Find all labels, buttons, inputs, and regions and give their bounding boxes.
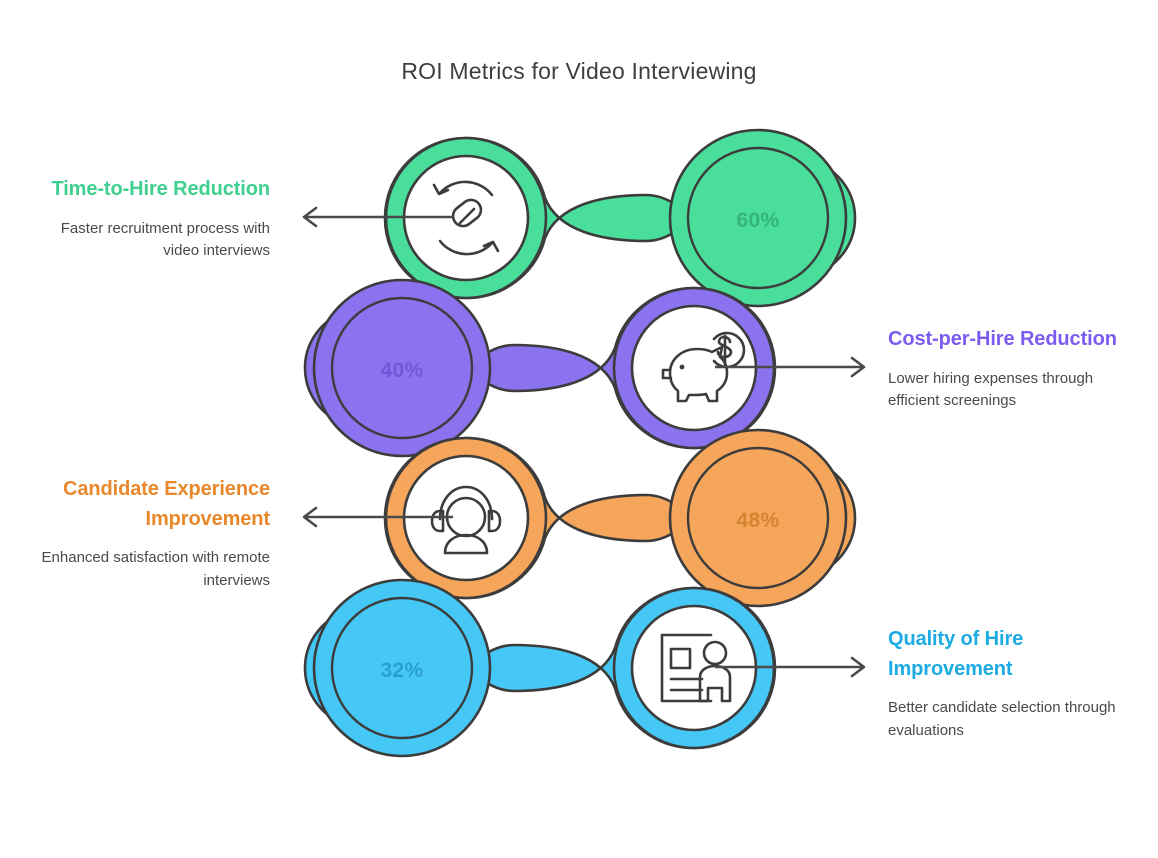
percent-value: 40% [381,359,424,382]
percent-value: 60% [737,209,780,232]
connector-arrow-left [296,205,456,229]
metric-label: Cost-per-Hire Reduction [888,325,1128,355]
metric-row-quality-of-hire: 32% Quality of Hire Improvement Better c… [0,573,1158,763]
metric-label: Candidate Experience Improvement [30,475,270,534]
metric-description: Lower hiring expenses through efficient … [888,368,1128,414]
metric-description: Better candidate selection through evalu… [888,697,1128,743]
connector-arrow-right [712,355,872,379]
metric-text-block: Quality of Hire Improvement Better candi… [888,625,1128,743]
percent-value: 32% [381,659,424,682]
percent-value: 48% [737,509,780,532]
metric-text-block: Cost-per-Hire Reduction Lower hiring exp… [888,325,1128,413]
metric-text-block: Time-to-Hire Reduction Faster recruitmen… [30,175,270,263]
metric-label: Time-to-Hire Reduction [30,175,270,205]
connector-arrow-left [296,505,456,529]
metric-label: Quality of Hire Improvement [888,625,1128,684]
page-title: ROI Metrics for Video Interviewing [0,58,1158,85]
metric-description: Faster recruitment process with video in… [30,218,270,264]
connector-arrow-right [712,655,872,679]
